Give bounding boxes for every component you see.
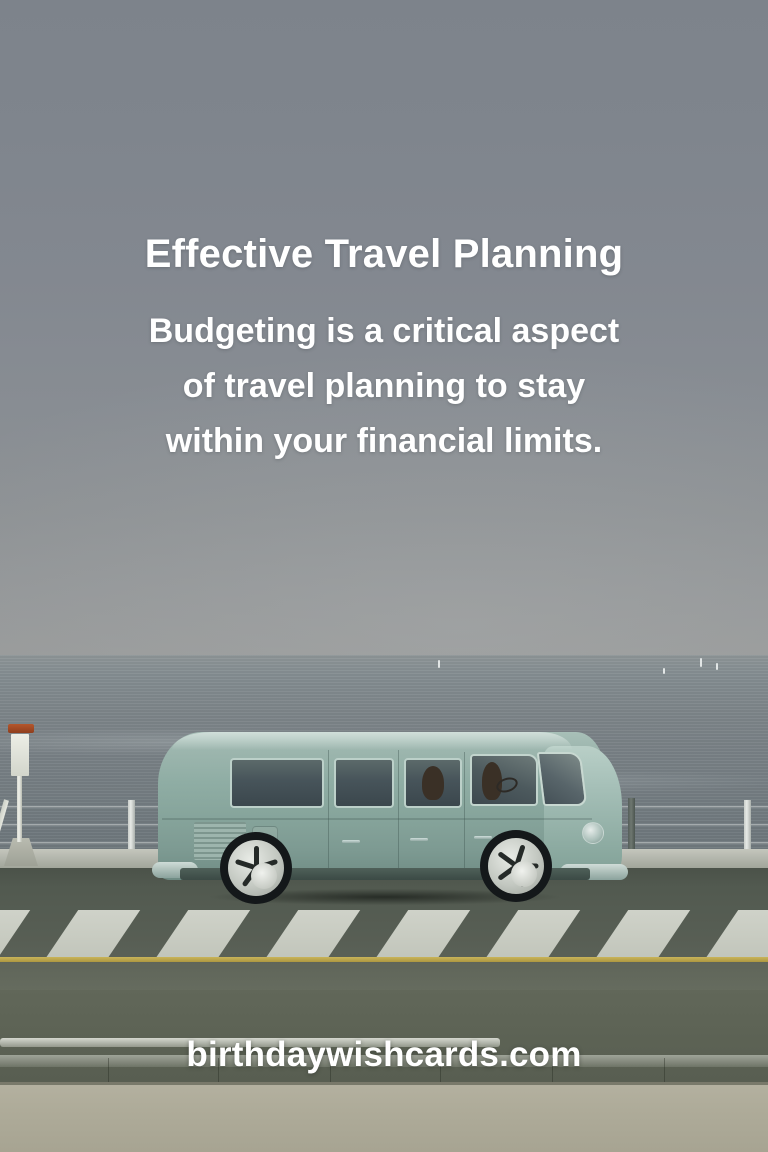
- website-url[interactable]: birthdaywishcards.com: [0, 1035, 768, 1075]
- crosswalk-stripe: [32, 910, 149, 964]
- sign-post-panel: [11, 734, 29, 776]
- bus-door-seam: [398, 750, 399, 874]
- vw-microbus: [152, 726, 632, 908]
- bus-window-rear: [230, 758, 324, 808]
- crosswalk-stripe: [362, 910, 479, 964]
- crosswalk-stripe: [252, 910, 369, 964]
- page-title: Effective Travel Planning: [0, 232, 768, 277]
- sign-post-marker: [8, 724, 34, 733]
- quote-line-3: within your financial limits.: [0, 414, 768, 469]
- railing-post: [128, 800, 135, 852]
- quote-line-1: Budgeting is a critical aspect: [0, 304, 768, 359]
- quote-text: Budgeting is a critical aspect of travel…: [0, 304, 768, 469]
- headlight-icon: [582, 822, 604, 844]
- wheel-rim: [488, 838, 544, 894]
- crosswalk-stripe: [472, 910, 589, 964]
- crosswalk-stripe: [0, 910, 40, 964]
- sailboat-icon: [438, 660, 440, 668]
- wheel-hub: [511, 861, 537, 887]
- wheel-hub: [251, 863, 277, 889]
- bus-roof-highlight: [172, 732, 572, 750]
- wheel-rear: [220, 832, 292, 904]
- bus-door-seam: [464, 752, 465, 872]
- bus-window-middle: [334, 758, 394, 808]
- crosswalk-stripe: [582, 910, 699, 964]
- sailboat-icon: [663, 668, 665, 674]
- wheel-rim: [228, 840, 284, 896]
- sidewalk: [0, 1082, 768, 1152]
- passenger-silhouette: [422, 766, 444, 800]
- quote-line-2: of travel planning to stay: [0, 359, 768, 414]
- travel-quote-card: Effective Travel Planning Budgeting is a…: [0, 0, 768, 1152]
- bus-belt-line: [162, 818, 592, 820]
- road-lower-lane: [0, 962, 768, 992]
- bus-door-handle: [474, 836, 492, 839]
- wheel-front: [480, 830, 552, 902]
- railing-post: [744, 800, 751, 852]
- sign-post-pole: [17, 770, 22, 842]
- sailboat-icon: [716, 663, 718, 670]
- sailboat-icon: [700, 658, 702, 667]
- crosswalk-stripe: [142, 910, 259, 964]
- bus-door-handle: [410, 838, 428, 841]
- crosswalk-stripe: [692, 910, 768, 964]
- crosswalk-markings: [0, 910, 768, 964]
- bus-door-seam: [328, 750, 329, 874]
- bus-windshield: [537, 752, 588, 806]
- bus-door-handle: [342, 840, 360, 843]
- sidewalk-edge: [0, 1082, 768, 1085]
